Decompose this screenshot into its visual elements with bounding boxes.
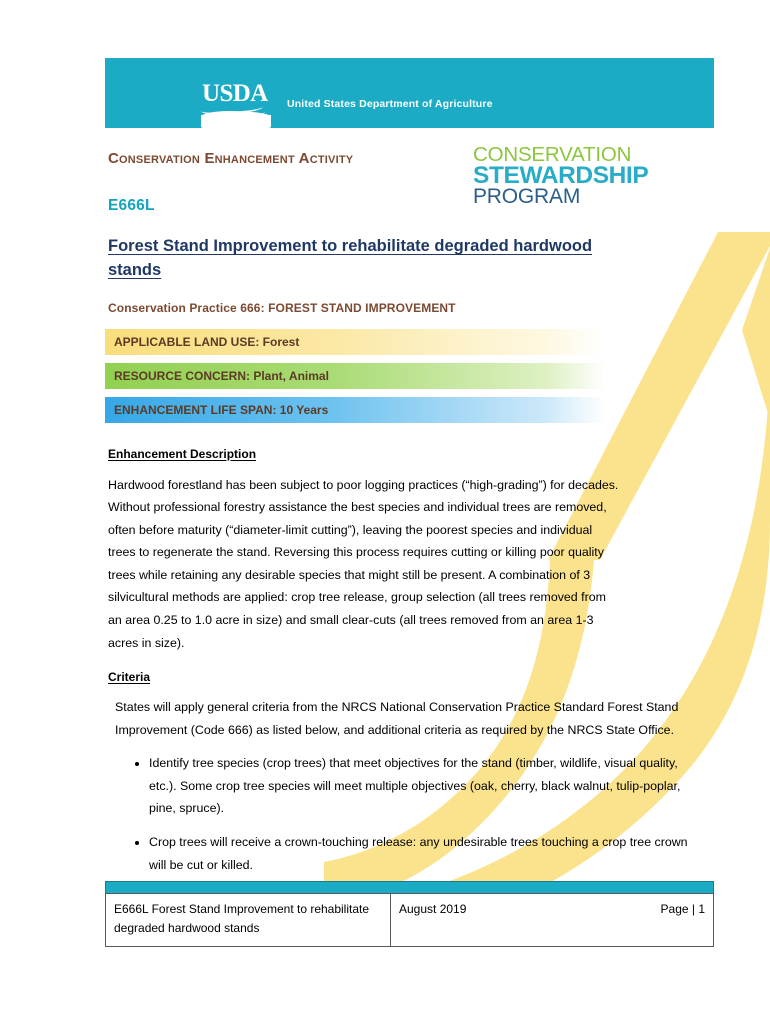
list-item: Identify tree species (crop trees) that … (149, 752, 694, 820)
footer-table: E666L Forest Stand Improvement to rehabi… (105, 893, 714, 947)
document-page: USDA United States Department of Agricul… (0, 0, 770, 1024)
footer-accent-bar (105, 881, 714, 893)
page-footer: E666L Forest Stand Improvement to rehabi… (105, 881, 714, 947)
section-heading-description: Enhancement Description (105, 447, 256, 461)
document-content: USDA United States Department of Agricul… (105, 58, 714, 887)
page-title: Forest Stand Improvement to rehabilitate… (105, 234, 613, 283)
section-heading-criteria: Criteria (105, 670, 150, 684)
description-paragraph: Hardwood forestland has been subject to … (105, 474, 620, 655)
usda-tagline: United States Department of Agriculture (287, 98, 493, 110)
footer-page-number: Page | 1 (661, 900, 705, 919)
usda-logo-icon: USDA (153, 70, 239, 118)
csp-program-logo: CONSERVATION STEWARDSHIP PROGRAM (473, 146, 648, 207)
banner-resource-concern: RESOURCE CONCERN: Plant, Animal (105, 363, 605, 389)
attribute-banner-group: APPLICABLE LAND USE: Forest RESOURCE CON… (105, 329, 714, 423)
usda-field-block-icon (201, 115, 271, 128)
usda-header-band: USDA United States Department of Agricul… (105, 58, 714, 128)
banner-enhancement-life-span: ENHANCEMENT LIFE SPAN: 10 Years (105, 397, 605, 423)
masthead-row: Conservation Enhancement Activity E666L … (105, 150, 714, 228)
csp-logo-line-program: PROGRAM (473, 187, 648, 206)
banner-applicable-land-use: APPLICABLE LAND USE: Forest (105, 329, 605, 355)
conservation-practice-line: Conservation Practice 666: FOREST STAND … (105, 301, 714, 315)
activity-code: E666L (108, 197, 155, 215)
activity-kicker: Conservation Enhancement Activity (108, 150, 353, 167)
usda-wordmark: USDA (202, 81, 268, 106)
footer-doc-reference: E666L Forest Stand Improvement to rehabi… (106, 894, 391, 946)
footer-meta: August 2019 Page | 1 (391, 894, 713, 946)
criteria-bullet-list: Identify tree species (crop trees) that … (105, 752, 694, 876)
footer-date: August 2019 (399, 900, 466, 919)
criteria-intro-paragraph: States will apply general criteria from … (105, 696, 715, 741)
csp-logo-line-stewardship: STEWARDSHIP (473, 165, 648, 188)
list-item: Crop trees will receive a crown-touching… (149, 831, 694, 876)
